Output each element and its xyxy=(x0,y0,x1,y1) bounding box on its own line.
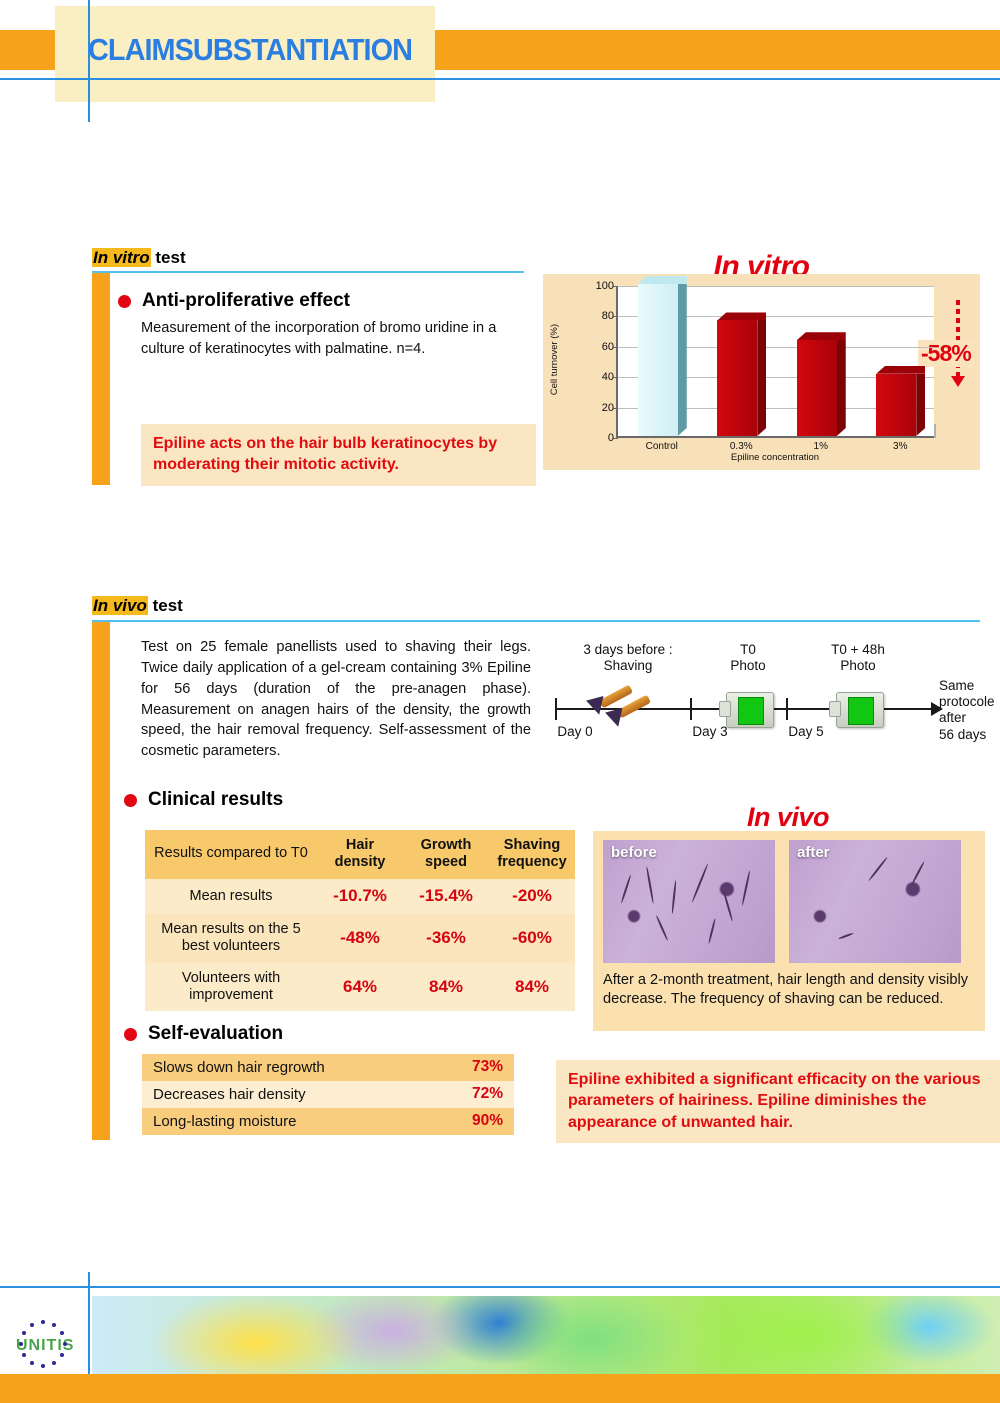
header-vertical-rule xyxy=(88,0,90,122)
hair-strand xyxy=(911,861,925,885)
logo-star-dot-icon xyxy=(60,1353,64,1357)
logo-star-dot-icon xyxy=(52,1361,56,1365)
table-row: Volunteers with improvement 64% 84% 84% xyxy=(145,963,575,1012)
chart-y-tick-label: 40 xyxy=(602,371,614,383)
timeline-label-shaving: 3 days before :Shaving xyxy=(583,642,672,674)
cell-best5-growth: -36% xyxy=(403,914,489,963)
camera-lens-t48 xyxy=(848,697,874,725)
header-orange-bar-right xyxy=(424,30,1000,70)
chart-bar-side xyxy=(757,320,766,436)
invivo-heading-rule xyxy=(92,620,980,622)
self-evaluation-label: Self-evaluation xyxy=(148,1023,283,1045)
chart-annotation-arrowhead xyxy=(951,376,965,387)
invivo-photo-caption: After a 2-month treatment, hair length a… xyxy=(603,971,975,1010)
chart-x-tick-label: 0.3% xyxy=(730,441,753,452)
invitro-bullet-label: Anti-proliferative effect xyxy=(142,290,350,312)
footer-orange-bar xyxy=(0,1374,1000,1403)
chart-annotation-label: -58% xyxy=(918,340,974,367)
timeline-tick-day3 xyxy=(690,698,692,720)
clinical-results-table: Results compared to T0 Hair density Grow… xyxy=(145,830,575,1011)
hair-strand xyxy=(868,857,888,882)
hair-strand xyxy=(741,870,750,906)
logo-star-dot-icon xyxy=(41,1320,45,1324)
hair-strand xyxy=(838,932,854,939)
chart-y-tick-label: 100 xyxy=(596,280,614,292)
invitro-heading-rest: test xyxy=(151,248,186,267)
hair-strand xyxy=(646,866,655,904)
se-value-regrowth: 73% xyxy=(472,1058,503,1076)
camera-lens-t0 xyxy=(738,697,764,725)
chart-bar xyxy=(797,340,837,436)
camera-icon-t48 xyxy=(836,692,884,728)
camera-icon-t0 xyxy=(726,692,774,728)
timeline-label-day5: Day 5 xyxy=(788,724,823,739)
chart-y-tick-label: 0 xyxy=(608,432,614,444)
se-label-moisture: Long-lasting moisture xyxy=(153,1113,296,1130)
cell-mean-shaving: -20% xyxy=(489,879,575,913)
unitis-logo: UNITIS xyxy=(10,1316,84,1372)
photo-before: before xyxy=(603,840,775,963)
photo-after: after xyxy=(789,840,961,963)
chart-bar-top xyxy=(797,332,846,340)
row-label-best5: Mean results on the 5 best volunteers xyxy=(145,914,317,963)
col-header-results: Results compared to T0 xyxy=(145,830,317,879)
chart-bar-front xyxy=(876,374,916,436)
logo-star-dot-icon xyxy=(30,1361,34,1365)
invitro-callout: Epiline acts on the hair bulb keratinocy… xyxy=(141,424,536,486)
invivo-photo-panel: before after After a 2-month treatment, … xyxy=(593,831,985,1031)
cell-improved-shaving: 84% xyxy=(489,963,575,1012)
cell-best5-hair: -48% xyxy=(317,914,403,963)
chart-bar-front xyxy=(638,284,678,436)
invitro-heading-italic: In vitro xyxy=(92,248,151,267)
table-row: Mean results -10.7% -15.4% -20% xyxy=(145,879,575,913)
camera-grip-t0 xyxy=(719,701,731,717)
bullet-dot-icon xyxy=(124,1028,137,1041)
timeline-label-day3: Day 3 xyxy=(692,724,727,739)
chart-bar-front xyxy=(717,320,757,436)
self-evaluation-list: Slows down hair regrowth 73% Decreases h… xyxy=(142,1054,514,1135)
invivo-photos-title: In vivo xyxy=(593,802,983,833)
clinical-results-bullet-row: Clinical results xyxy=(124,789,283,811)
bullet-dot-icon xyxy=(118,295,131,308)
se-value-moisture: 90% xyxy=(472,1112,503,1130)
col-header-shaving: Shaving frequency xyxy=(489,830,575,879)
logo-star-dot-icon xyxy=(22,1353,26,1357)
logo-star-dot-icon xyxy=(63,1342,67,1346)
hair-strand xyxy=(655,915,668,941)
list-item: Slows down hair regrowth 73% xyxy=(142,1054,514,1081)
se-label-density: Decreases hair density xyxy=(153,1086,306,1103)
chart-x-tick-label: 1% xyxy=(814,441,828,452)
logo-star-dot-icon xyxy=(41,1364,45,1368)
chart-bar-side xyxy=(678,284,687,436)
chart-x-axis-label: Epiline concentration xyxy=(616,452,934,463)
footer-image-band xyxy=(92,1296,1000,1374)
invitro-heading-rule xyxy=(92,271,524,273)
timeline-label-same-protocol: Sameprotocoleafter56 days xyxy=(939,678,995,743)
invivo-heading-italic: In vivo xyxy=(92,596,148,615)
photo-after-caption: after xyxy=(797,844,830,861)
col-header-hair: Hair density xyxy=(317,830,403,879)
logo-star-dot-icon xyxy=(22,1331,26,1335)
col-header-growth: Growth speed xyxy=(403,830,489,879)
se-label-regrowth: Slows down hair regrowth xyxy=(153,1059,325,1076)
chart-x-tick-label: 3% xyxy=(893,441,907,452)
invivo-description: Test on 25 female panellists used to sha… xyxy=(141,637,531,762)
chart-y-tick-label: 60 xyxy=(602,341,614,353)
chart-bar xyxy=(717,320,757,436)
timeline-label-t0: T0Photo xyxy=(730,642,765,674)
row-label-mean: Mean results xyxy=(145,879,317,913)
list-item: Long-lasting moisture 90% xyxy=(142,1108,514,1135)
chart-bar-front xyxy=(797,340,837,436)
chart-bar-side xyxy=(837,340,846,436)
cell-mean-hair: -10.7% xyxy=(317,879,403,913)
study-timeline-diagram: Day 0 Day 3 Day 5 3 days before :Shaving… xyxy=(543,636,993,760)
logo-star-dot-icon xyxy=(60,1331,64,1335)
chart-bar-top xyxy=(638,276,687,284)
cell-improved-growth: 84% xyxy=(403,963,489,1012)
timeline-tick-day0 xyxy=(555,698,557,720)
invivo-conclusion-callout: Epiline exhibited a significant efficaci… xyxy=(556,1060,1000,1143)
chart-bar xyxy=(638,284,678,436)
cell-improved-hair: 64% xyxy=(317,963,403,1012)
logo-star-dot-icon xyxy=(52,1323,56,1327)
hair-strand xyxy=(691,863,709,903)
chart-y-tick-label: 20 xyxy=(602,402,614,414)
chart-x-tick-label: Control xyxy=(646,441,678,452)
invitro-description: Measurement of the incorporation of brom… xyxy=(141,318,533,360)
logo-star-dot-icon xyxy=(19,1342,23,1346)
hair-strand xyxy=(723,890,734,921)
invivo-heading-rest: test xyxy=(148,596,183,615)
se-value-density: 72% xyxy=(472,1085,503,1103)
cell-mean-growth: -15.4% xyxy=(403,879,489,913)
self-evaluation-bullet-row: Self-evaluation xyxy=(124,1023,283,1045)
logo-star-dot-icon xyxy=(30,1323,34,1327)
clinical-results-label: Clinical results xyxy=(148,789,283,811)
chart-bar-top xyxy=(717,312,766,320)
chart-y-axis-label: Cell turnover (%) xyxy=(549,324,560,395)
camera-grip-t48 xyxy=(829,701,841,717)
invitro-accent-bar xyxy=(92,273,110,485)
invivo-accent-bar xyxy=(92,622,110,1140)
hair-strand xyxy=(671,880,677,914)
list-item: Decreases hair density 72% xyxy=(142,1081,514,1108)
chart-bar-side xyxy=(916,374,925,436)
chart-plot-area: -58% 020406080100Control0.3%1%3% xyxy=(616,286,934,438)
cell-best5-shaving: -60% xyxy=(489,914,575,963)
photo-before-caption: before xyxy=(611,844,657,861)
chart-bar-top xyxy=(876,366,925,374)
hair-strand xyxy=(708,918,716,944)
invivo-heading: In vivo test xyxy=(92,596,183,616)
page-title: CLAIMSUBSTANTIATION xyxy=(88,24,404,76)
invitro-heading: In vitro test xyxy=(92,248,186,268)
table-row: Mean results on the 5 best volunteers -4… xyxy=(145,914,575,963)
invitro-chart-panel: Cell turnover (%) -58% 020406080100Contr… xyxy=(543,274,980,470)
header-divider xyxy=(0,78,1000,80)
timeline-tick-day5 xyxy=(786,698,788,720)
bullet-dot-icon xyxy=(124,794,137,807)
chart-bar xyxy=(876,374,916,436)
chart-y-tick-label: 80 xyxy=(602,310,614,322)
footer-divider xyxy=(0,1286,1000,1288)
timeline-label-day0: Day 0 xyxy=(557,724,592,739)
timeline-label-t0-48h: T0 + 48hPhoto xyxy=(831,642,885,674)
table-header-row: Results compared to T0 Hair density Grow… xyxy=(145,830,575,879)
invitro-bullet-row: Anti-proliferative effect xyxy=(118,290,350,312)
row-label-improved: Volunteers with improvement xyxy=(145,963,317,1012)
hair-strand xyxy=(620,874,631,903)
